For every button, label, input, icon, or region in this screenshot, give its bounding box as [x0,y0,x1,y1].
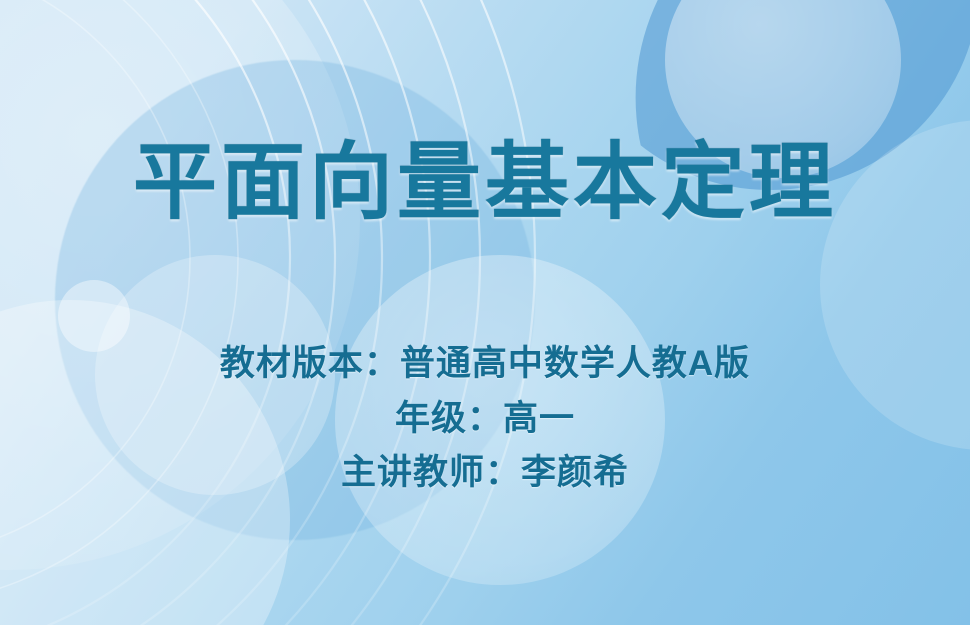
presentation-slide: 平面向量基本定理 教材版本：普通高中数学人教A版 年级：高一 主讲教师：李颜希 [0,0,970,625]
subtitle-line-textbook-version: 教材版本：普通高中数学人教A版 [220,340,750,388]
subtitle-line-grade: 年级：高一 [395,395,575,443]
slide-subtitle-block: 教材版本：普通高中数学人教A版 年级：高一 主讲教师：李颜希 [220,340,750,497]
slide-title: 平面向量基本定理 [133,138,837,226]
subtitle-line-teacher: 主讲教师：李颜希 [341,449,629,497]
slide-content: 平面向量基本定理 教材版本：普通高中数学人教A版 年级：高一 主讲教师：李颜希 [0,0,970,625]
